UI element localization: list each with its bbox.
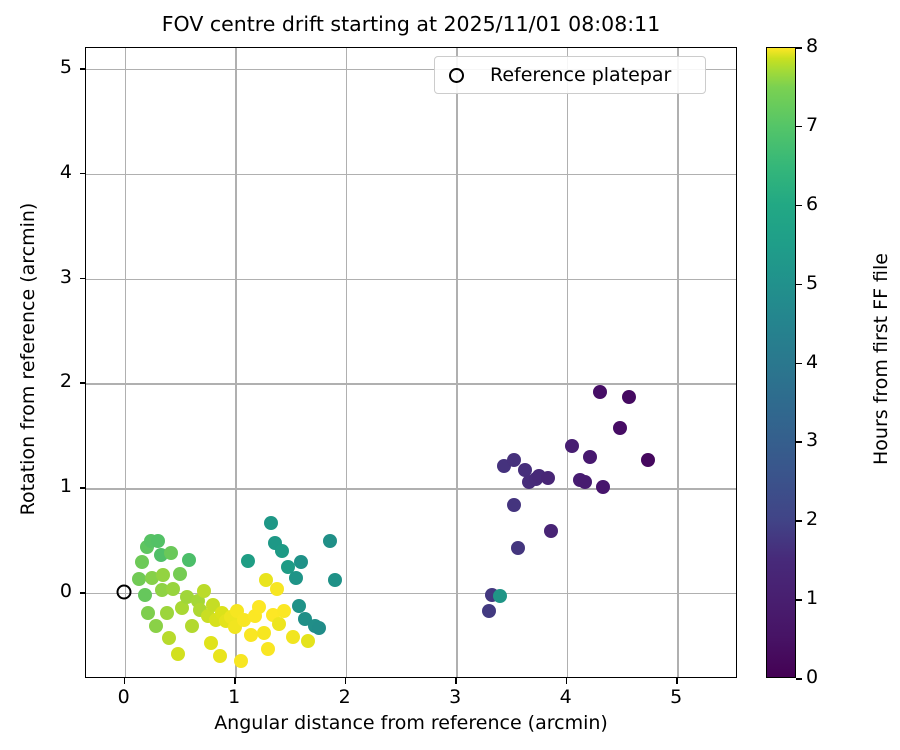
y-tick-mark <box>80 592 86 594</box>
scatter-point <box>197 584 211 598</box>
y-tick-label: 2 <box>38 370 72 392</box>
scatter-point <box>312 621 326 635</box>
x-tick-mark <box>234 678 236 684</box>
x-axis-label: Angular distance from reference (arcmin) <box>85 712 737 734</box>
gridline-vertical <box>125 48 126 677</box>
scatter-point <box>541 471 555 485</box>
colorbar-tick-label: 6 <box>806 193 818 215</box>
scatter-point <box>272 617 286 631</box>
scatter-point <box>294 555 308 569</box>
x-tick-mark <box>455 678 457 684</box>
colorbar-tick-label: 8 <box>806 35 818 57</box>
scatter-point <box>328 573 342 587</box>
colorbar <box>766 47 796 678</box>
colorbar-tick-label: 4 <box>806 351 818 373</box>
legend-item-label: Reference platepar <box>490 64 671 86</box>
gridline-vertical <box>235 48 236 677</box>
scatter-point <box>171 647 185 661</box>
colorbar-gradient <box>767 48 795 677</box>
colorbar-tick-label: 5 <box>806 272 818 294</box>
gridline-vertical <box>456 48 457 677</box>
scatter-point <box>164 546 178 560</box>
colorbar-tick-mark <box>796 678 802 680</box>
scatter-point <box>583 450 597 464</box>
scatter-point <box>244 628 258 642</box>
x-tick-label: 3 <box>435 686 475 708</box>
scatter-point <box>151 534 165 548</box>
gridline-horizontal <box>86 174 736 175</box>
scatter-point <box>132 572 146 586</box>
y-tick-label: 5 <box>38 56 72 78</box>
y-axis-label: Rotation from reference (arcmin) <box>17 39 39 679</box>
colorbar-tick-mark <box>796 520 802 522</box>
x-tick-mark <box>124 678 126 684</box>
colorbar-tick-mark <box>796 441 802 443</box>
y-tick-label: 4 <box>38 161 72 183</box>
plot-area <box>86 48 736 677</box>
scatter-point <box>301 634 315 648</box>
scatter-point <box>160 606 174 620</box>
x-tick-mark <box>345 678 347 684</box>
y-tick-label: 3 <box>38 266 72 288</box>
gridline-horizontal <box>86 383 736 384</box>
gridline-horizontal <box>86 279 736 280</box>
colorbar-tick-mark <box>796 205 802 207</box>
scatter-point <box>185 619 199 633</box>
scatter-point <box>135 555 149 569</box>
scatter-point <box>482 604 496 618</box>
y-tick-mark <box>80 68 86 70</box>
scatter-point <box>162 631 176 645</box>
y-tick-label: 1 <box>38 475 72 497</box>
scatter-point <box>507 498 521 512</box>
plot-axes <box>85 47 737 678</box>
scatter-point <box>252 600 266 614</box>
x-tick-label: 0 <box>104 686 144 708</box>
colorbar-tick-label: 1 <box>806 587 818 609</box>
scatter-point <box>277 604 291 618</box>
colorbar-label: Hours from first FF file <box>870 39 892 679</box>
scatter-point <box>613 421 627 435</box>
x-tick-label: 2 <box>325 686 365 708</box>
scatter-point <box>596 480 610 494</box>
scatter-point <box>511 541 525 555</box>
chart-figure: FOV centre drift starting at 2025/11/01 … <box>0 0 900 750</box>
scatter-point <box>493 589 507 603</box>
scatter-point <box>641 453 655 467</box>
scatter-point <box>289 571 303 585</box>
scatter-point <box>182 553 196 567</box>
scatter-point <box>544 524 558 538</box>
x-tick-label: 5 <box>656 686 696 708</box>
colorbar-tick-mark <box>796 47 802 49</box>
colorbar-tick-label: 0 <box>806 666 818 688</box>
gridline-vertical <box>567 48 568 677</box>
reference-platepar-point <box>116 585 131 600</box>
scatter-point <box>257 626 271 640</box>
reference-platepar-marker-icon <box>449 68 464 83</box>
scatter-point <box>156 568 170 582</box>
scatter-point <box>270 582 284 596</box>
x-tick-label: 1 <box>214 686 254 708</box>
scatter-point <box>565 439 579 453</box>
colorbar-tick-label: 2 <box>806 508 818 530</box>
scatter-point <box>241 554 255 568</box>
scatter-point <box>275 544 289 558</box>
scatter-point <box>593 385 607 399</box>
scatter-point <box>578 475 592 489</box>
colorbar-tick-mark <box>796 284 802 286</box>
x-tick-mark <box>676 678 678 684</box>
colorbar-tick-mark <box>796 126 802 128</box>
colorbar-tick-label: 7 <box>806 114 818 136</box>
scatter-point <box>261 642 275 656</box>
y-tick-mark <box>80 173 86 175</box>
scatter-point <box>264 516 278 530</box>
x-tick-mark <box>566 678 568 684</box>
x-tick-label: 4 <box>546 686 586 708</box>
scatter-point <box>323 534 337 548</box>
scatter-point <box>173 567 187 581</box>
scatter-point <box>234 654 248 668</box>
page-title: FOV centre drift starting at 2025/11/01 … <box>85 12 737 36</box>
colorbar-tick-mark <box>796 599 802 601</box>
scatter-point <box>138 588 152 602</box>
scatter-point <box>204 636 218 650</box>
gridline-vertical <box>346 48 347 677</box>
scatter-point <box>292 599 306 613</box>
gridline-horizontal <box>86 488 736 489</box>
y-tick-mark <box>80 278 86 280</box>
colorbar-tick-label: 3 <box>806 429 818 451</box>
scatter-point <box>286 630 300 644</box>
scatter-point <box>166 582 180 596</box>
colorbar-tick-mark <box>796 363 802 365</box>
scatter-point <box>213 649 227 663</box>
legend: Reference platepar <box>434 56 706 94</box>
y-tick-label: 0 <box>38 580 72 602</box>
scatter-point <box>622 390 636 404</box>
gridline-vertical <box>677 48 678 677</box>
y-tick-mark <box>80 382 86 384</box>
y-tick-mark <box>80 487 86 489</box>
scatter-point <box>149 619 163 633</box>
